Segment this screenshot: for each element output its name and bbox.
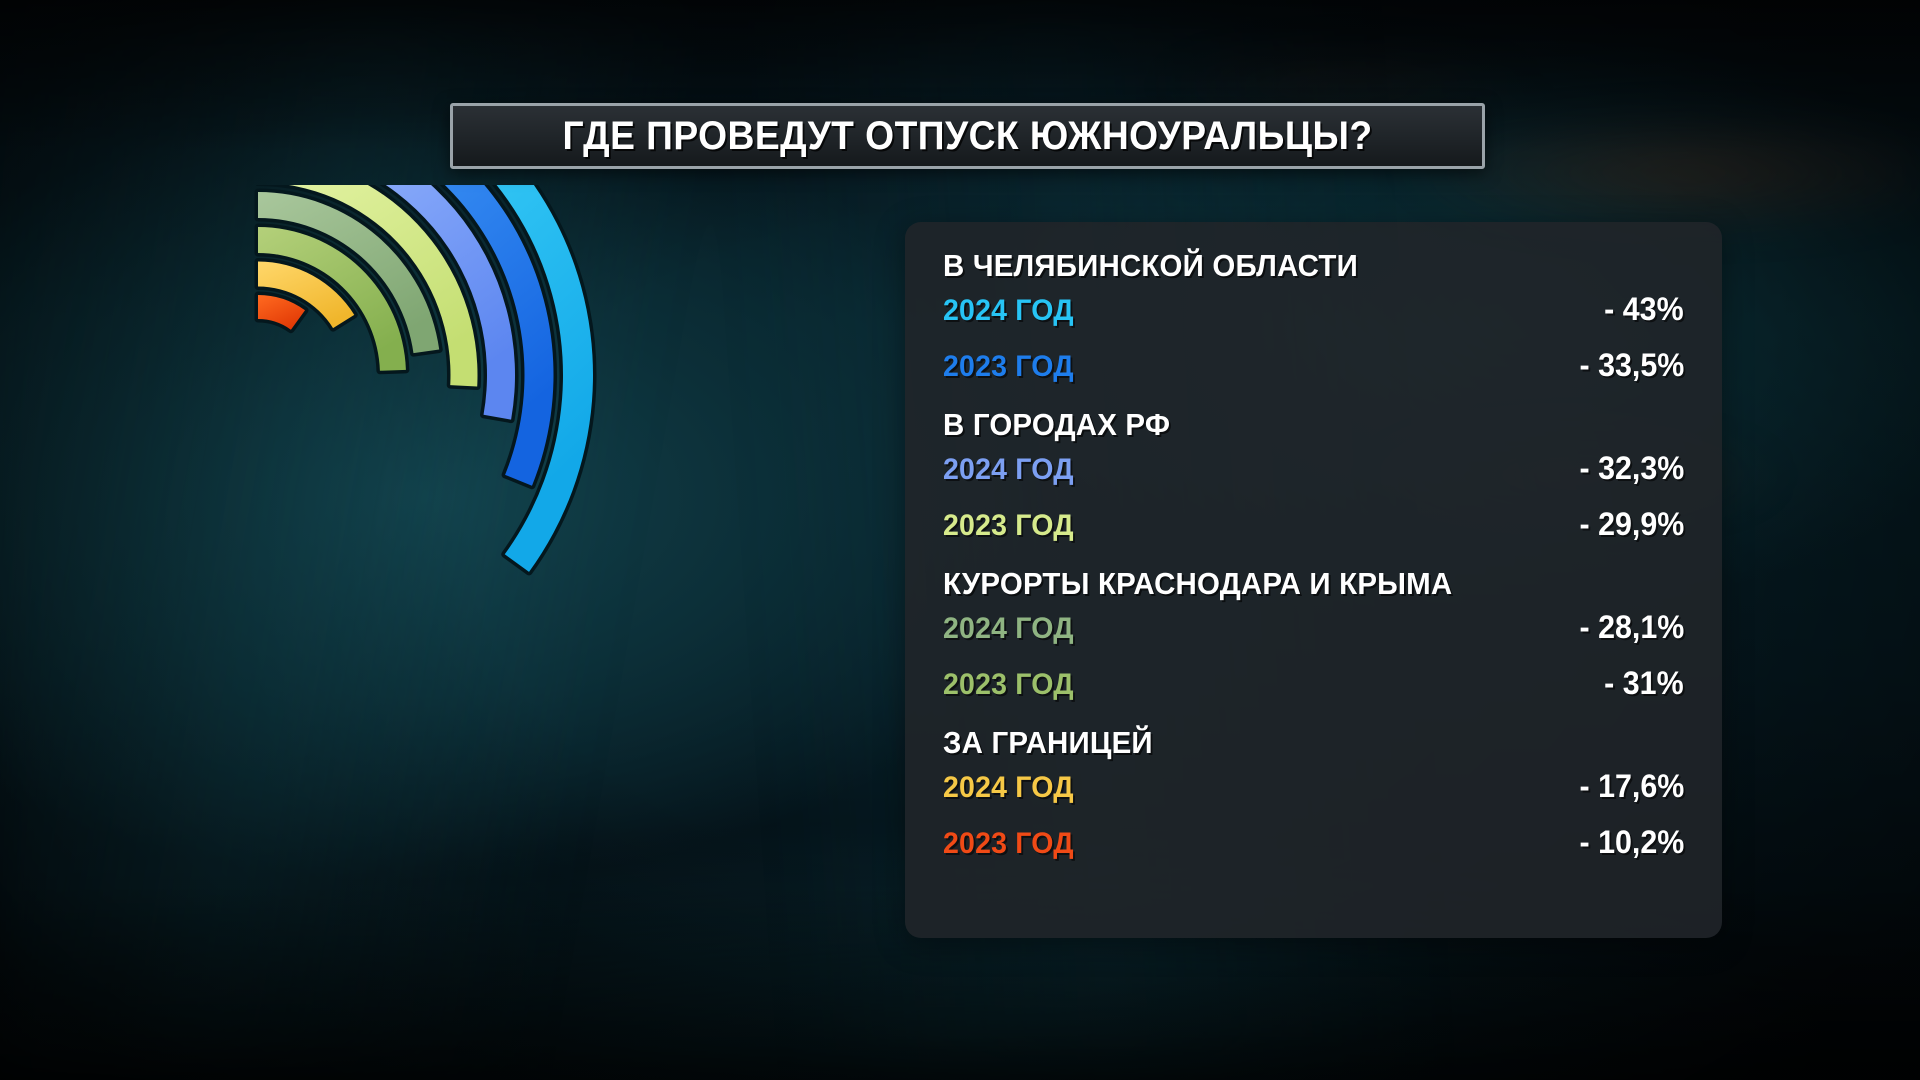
stat-group-heading: В ГОРОДАХ РФ	[943, 407, 1647, 443]
stat-group: КУРОРТЫ КРАСНОДАРА И КРЫМА2024 ГОД- 28,1…	[943, 566, 1684, 721]
stat-year-label: 2024 ГОД	[943, 612, 1074, 646]
stat-row: 2024 ГОД- 17,6%	[943, 768, 1684, 824]
stat-value: - 29,9%	[1579, 506, 1684, 543]
stat-value: - 43%	[1605, 291, 1684, 328]
stat-value: - 31%	[1605, 665, 1684, 702]
stat-group: В ГОРОДАХ РФ2024 ГОД- 32,3%2023 ГОД- 29,…	[943, 407, 1684, 562]
page-title: ГДЕ ПРОВЕДУТ ОТПУСК ЮЖНОУРАЛЬЦЫ?	[562, 114, 1372, 159]
stat-year-label: 2024 ГОД	[943, 771, 1074, 805]
stat-year-label: 2023 ГОД	[943, 350, 1074, 384]
stat-year-label: 2023 ГОД	[943, 827, 1074, 861]
radial-arc-chart	[250, 185, 810, 985]
stat-year-label: 2024 ГОД	[943, 294, 1074, 328]
stat-row: 2023 ГОД- 33,5%	[943, 347, 1684, 403]
stat-year-label: 2024 ГОД	[943, 453, 1074, 487]
statistics-panel: В ЧЕЛЯБИНСКОЙ ОБЛАСТИ2024 ГОД- 43%2023 Г…	[905, 222, 1722, 938]
stat-value: - 10,2%	[1579, 824, 1684, 861]
stat-value: - 33,5%	[1579, 347, 1684, 384]
stat-row: 2024 ГОД- 32,3%	[943, 450, 1684, 506]
stat-row: 2023 ГОД- 29,9%	[943, 506, 1684, 562]
stat-group-heading: КУРОРТЫ КРАСНОДАРА И КРЫМА	[943, 566, 1647, 602]
stat-year-label: 2023 ГОД	[943, 509, 1074, 543]
arc-series	[258, 185, 593, 572]
stat-row: 2024 ГОД- 43%	[943, 291, 1684, 347]
stat-row: 2024 ГОД- 28,1%	[943, 609, 1684, 665]
stat-value: - 28,1%	[1579, 609, 1684, 646]
stat-group: ЗА ГРАНИЦЕЙ2024 ГОД- 17,6%2023 ГОД- 10,2…	[943, 725, 1684, 880]
page-title-box: ГДЕ ПРОВЕДУТ ОТПУСК ЮЖНОУРАЛЬЦЫ?	[450, 103, 1485, 169]
stat-row: 2023 ГОД- 10,2%	[943, 824, 1684, 880]
stat-year-label: 2023 ГОД	[943, 668, 1074, 702]
stat-value: - 17,6%	[1579, 768, 1684, 805]
stat-group-heading: ЗА ГРАНИЦЕЙ	[943, 725, 1647, 761]
stat-group-heading: В ЧЕЛЯБИНСКОЙ ОБЛАСТИ	[943, 248, 1647, 284]
stat-row: 2023 ГОД- 31%	[943, 665, 1684, 721]
stat-group: В ЧЕЛЯБИНСКОЙ ОБЛАСТИ2024 ГОД- 43%2023 Г…	[943, 248, 1684, 403]
stat-value: - 32,3%	[1579, 450, 1684, 487]
